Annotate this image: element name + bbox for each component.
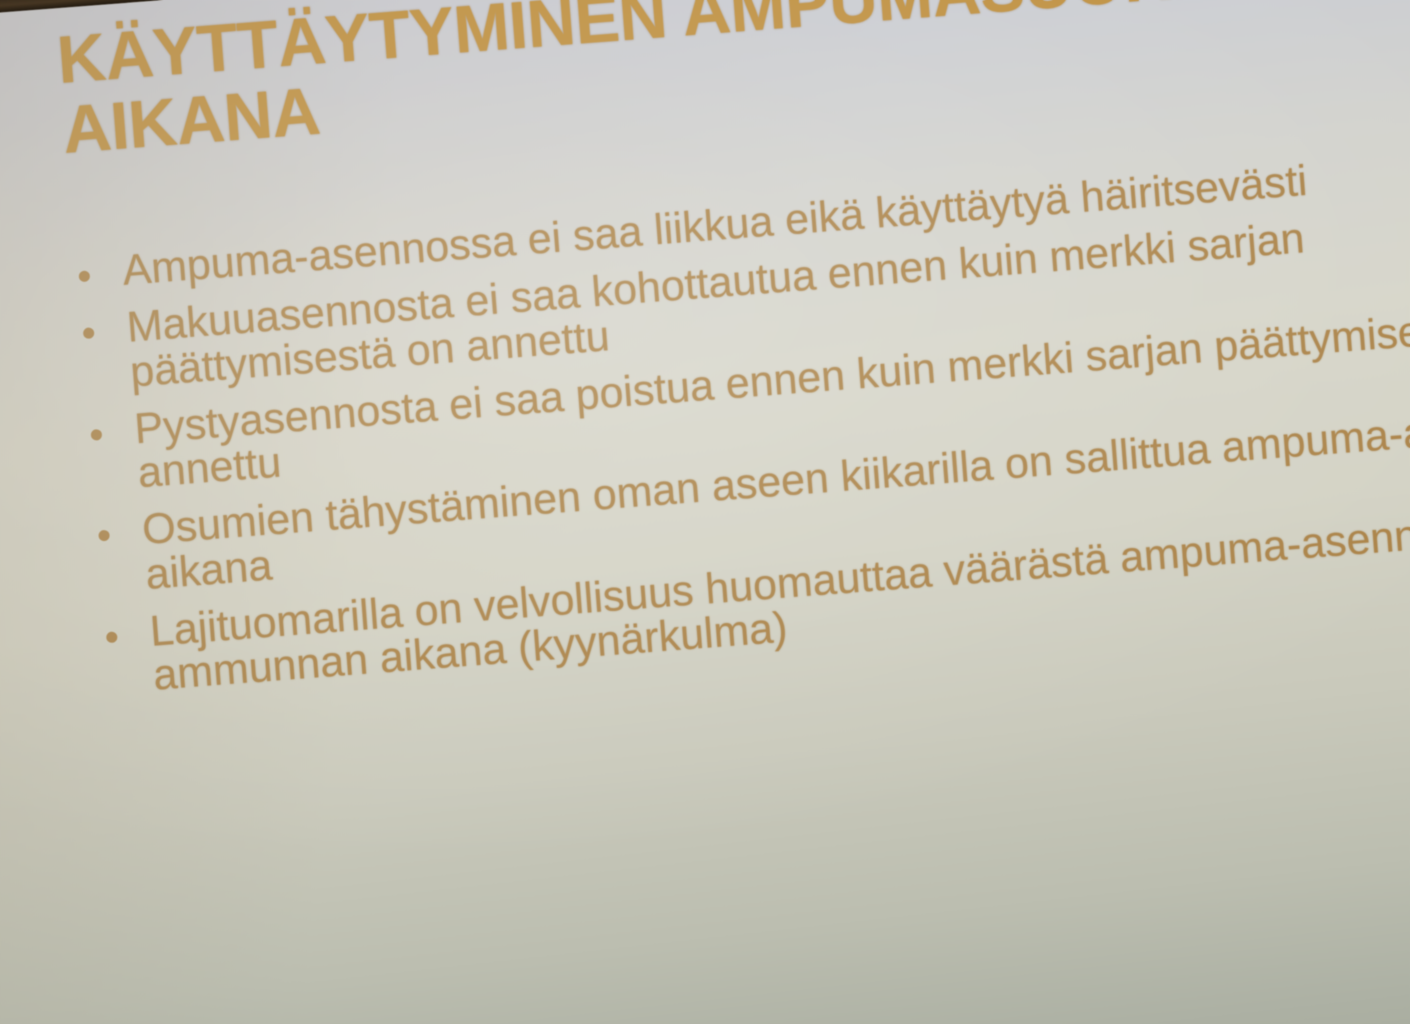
- bullet-dot-icon: [98, 530, 110, 542]
- bullet-dot-icon: [91, 429, 103, 441]
- slide-bullet-list: Ampuma-asennossa ei saa liikkua eikä käy…: [69, 141, 1410, 715]
- projection-screen-assembly: KÄYTTÄYTYMINEN AMPUMASUORITUKSEN AIKANA …: [0, 0, 1410, 1024]
- bullet-dot-icon: [106, 631, 118, 643]
- projected-slide-photo: KÄYTTÄYTYMINEN AMPUMASUORITUKSEN AIKANA …: [0, 0, 1410, 1024]
- slide-content: KÄYTTÄYTYMINEN AMPUMASUORITUKSEN AIKANA …: [0, 0, 1410, 1024]
- bullet-dot-icon: [83, 328, 95, 340]
- bullet-dot-icon: [78, 270, 90, 282]
- slide-title: KÄYTTÄYTYMINEN AMPUMASUORITUKSEN AIKANA: [55, 0, 1410, 167]
